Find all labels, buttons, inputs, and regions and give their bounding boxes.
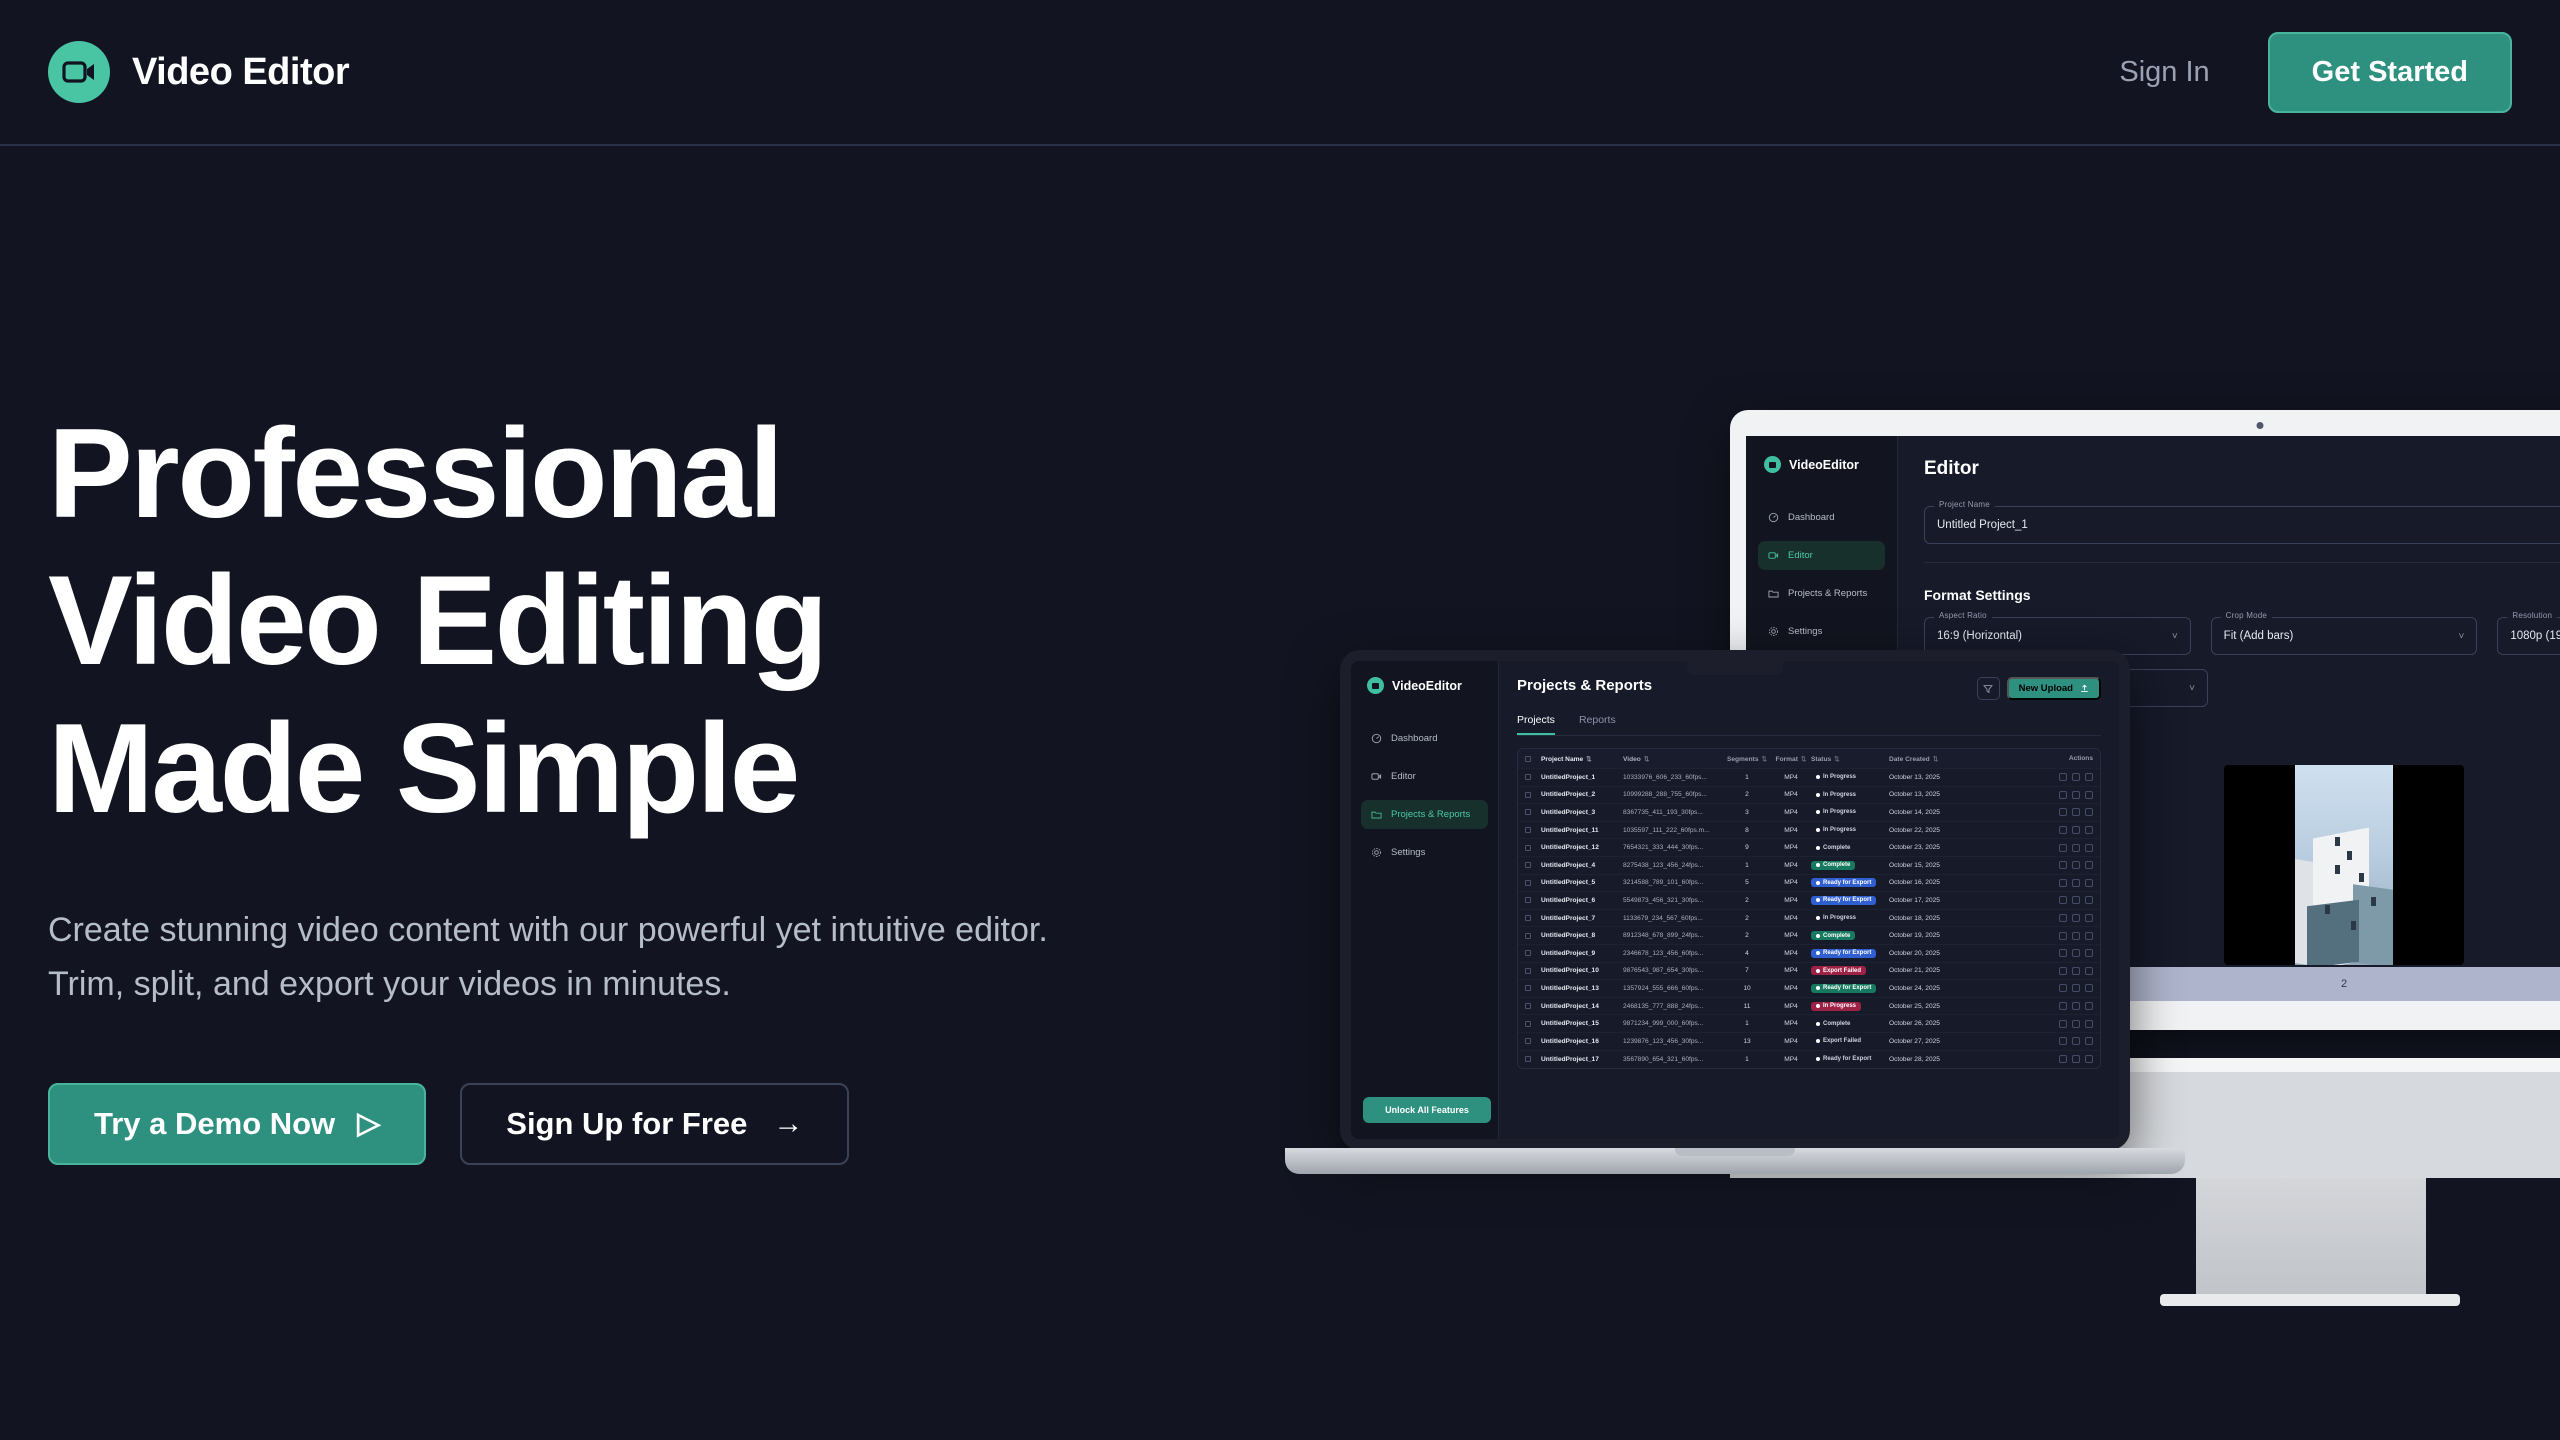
cell-format: MP4 xyxy=(1771,791,1811,798)
cell-date-created: October 18, 2025 xyxy=(1889,915,1959,922)
laptop-header: Projects & Reports New Upload xyxy=(1517,677,2101,700)
edit-icon[interactable] xyxy=(2059,949,2067,957)
video-player[interactable] xyxy=(2224,765,2464,965)
edit-icon[interactable] xyxy=(2059,791,2067,799)
status-badge: Complete xyxy=(1811,931,1855,940)
export-icon[interactable] xyxy=(2072,949,2080,957)
status-badge: Ready for Export xyxy=(1811,896,1876,905)
cell-format: MP4 xyxy=(1771,1003,1811,1010)
table-row[interactable]: UntitledProject_131357924_555_666_60fps.… xyxy=(1518,980,2100,998)
edit-icon[interactable] xyxy=(2059,773,2067,781)
editor-page-title: Editor xyxy=(1924,458,1979,480)
cell-actions xyxy=(1959,1055,2093,1063)
laptop-device: VideoEditor Dashboard Editor Projec xyxy=(1340,650,2130,1210)
sidebar-item-dashboard[interactable]: Dashboard xyxy=(1758,503,1885,532)
sidebar-item-settings[interactable]: Settings xyxy=(1361,838,1488,867)
cell-actions xyxy=(1959,791,2093,799)
cell-segments: 3 xyxy=(1723,809,1771,816)
laptop-notch xyxy=(1687,661,1783,675)
cell-status: In Progress xyxy=(1811,808,1889,817)
cell-format: MP4 xyxy=(1771,774,1811,781)
cell-project-name: UntitledProject_7 xyxy=(1541,915,1623,922)
resolution-legend: Resolution xyxy=(2507,611,2557,620)
cell-project-name: UntitledProject_12 xyxy=(1541,844,1623,851)
try-demo-label: Try a Demo Now xyxy=(94,1106,335,1142)
cell-date-created: October 24, 2025 xyxy=(1889,985,1959,992)
cell-segments: 4 xyxy=(1723,950,1771,957)
format-field-row-1: Aspect Ratio 16:9 (Horizontal) ˅ Crop Mo… xyxy=(1924,603,2560,655)
cell-actions xyxy=(1959,896,2093,904)
export-icon[interactable] xyxy=(2072,967,2080,975)
cell-date-created: October 14, 2025 xyxy=(1889,809,1959,816)
table-row[interactable]: UntitledProject_88912348_678_899_24fps..… xyxy=(1518,927,2100,945)
cell-date-created: October 13, 2025 xyxy=(1889,774,1959,781)
sign-in-link[interactable]: Sign In xyxy=(2119,56,2209,89)
camera-icon xyxy=(2257,422,2264,429)
gauge-icon xyxy=(1371,733,1382,744)
column-header-segments[interactable]: Segments⇅ xyxy=(1723,755,1771,763)
heading-line-2: Video Editing xyxy=(48,547,1228,694)
brand-name: Video Editor xyxy=(132,51,349,94)
format-settings-heading: Format Settings xyxy=(1924,587,2560,603)
cell-video: 2346678_123_456_60fps... xyxy=(1623,950,1723,957)
row-checkbox[interactable] xyxy=(1525,1038,1541,1044)
table-header-row: Project Name⇅ Video⇅ Segments⇅ Format⇅ S… xyxy=(1518,749,2100,769)
edit-icon[interactable] xyxy=(2059,844,2067,852)
divider xyxy=(1924,562,2560,563)
column-header-status[interactable]: Status⇅ xyxy=(1811,755,1889,763)
row-checkbox[interactable] xyxy=(1525,968,1541,974)
monitor-stand-neck xyxy=(2196,1178,2426,1298)
cell-video: 9871234_999_000_60fps... xyxy=(1623,1020,1723,1027)
cell-segments: 1 xyxy=(1723,1056,1771,1063)
cell-video: 3214588_789_101_60fps... xyxy=(1623,879,1723,886)
cell-segments: 8 xyxy=(1723,827,1771,834)
laptop-sidebar: VideoEditor Dashboard Editor Projec xyxy=(1351,661,1499,1139)
hero-cta-group: Try a Demo Now ▷ Sign Up for Free → xyxy=(48,1083,1228,1165)
sidebar-item-label: Settings xyxy=(1391,847,1425,858)
aspect-ratio-legend: Aspect Ratio xyxy=(1934,611,1992,620)
column-header-date-created[interactable]: Date Created⇅ xyxy=(1889,755,1959,763)
cell-format: MP4 xyxy=(1771,915,1811,922)
cell-actions xyxy=(1959,1020,2093,1028)
cell-actions xyxy=(1959,773,2093,781)
export-icon[interactable] xyxy=(2072,826,2080,834)
table-row[interactable]: UntitledProject_109876543_987_654_30fps.… xyxy=(1518,963,2100,981)
export-icon[interactable] xyxy=(2072,1020,2080,1028)
status-badge: In Progress xyxy=(1811,773,1861,782)
laptop-brand-name: VideoEditor xyxy=(1392,679,1462,693)
page-title: Professional Video Editing Made Simple xyxy=(48,400,1228,842)
row-checkbox[interactable] xyxy=(1525,897,1541,903)
delete-icon[interactable] xyxy=(2085,896,2093,904)
export-icon[interactable] xyxy=(2072,879,2080,887)
upload-icon xyxy=(2080,684,2089,693)
laptop-trackpad-notch xyxy=(1675,1148,1795,1156)
status-badge: In Progress xyxy=(1811,790,1861,799)
sign-up-button[interactable]: Sign Up for Free → xyxy=(460,1083,849,1165)
cell-status: Complete xyxy=(1811,931,1889,940)
cell-actions xyxy=(1959,949,2093,957)
cell-video: 8912348_678_899_24fps... xyxy=(1623,932,1723,939)
new-upload-button[interactable]: New Upload xyxy=(2007,677,2101,700)
video-frame-image xyxy=(2295,765,2393,965)
edit-icon[interactable] xyxy=(2059,1002,2067,1010)
cell-format: MP4 xyxy=(1771,879,1811,886)
aspect-ratio-value: 16:9 (Horizontal) xyxy=(1937,630,2022,642)
table-row[interactable]: UntitledProject_173567890_654_321_60fps.… xyxy=(1518,1051,2100,1069)
delete-icon[interactable] xyxy=(2085,1020,2093,1028)
cell-video: 1357924_555_666_60fps... xyxy=(1623,985,1723,992)
row-checkbox[interactable] xyxy=(1525,1003,1541,1009)
cell-project-name: UntitledProject_10 xyxy=(1541,967,1623,974)
cell-format: MP4 xyxy=(1771,985,1811,992)
edit-icon[interactable] xyxy=(2059,808,2067,816)
edit-icon[interactable] xyxy=(2059,984,2067,992)
edit-icon[interactable] xyxy=(2059,1055,2067,1063)
cell-project-name: UntitledProject_17 xyxy=(1541,1056,1623,1063)
export-icon[interactable] xyxy=(2072,896,2080,904)
table-row[interactable]: UntitledProject_110333976_606_233_60fps.… xyxy=(1518,769,2100,787)
table-row[interactable]: UntitledProject_111035597_111_222_60fps.… xyxy=(1518,822,2100,840)
gear-icon xyxy=(1768,626,1779,637)
cell-date-created: October 15, 2025 xyxy=(1889,862,1959,869)
delete-icon[interactable] xyxy=(2085,967,2093,975)
status-badge: Complete xyxy=(1811,843,1855,852)
video-camera-icon xyxy=(1371,771,1382,782)
status-badge: In Progress xyxy=(1811,914,1861,923)
cell-format: MP4 xyxy=(1771,827,1811,834)
cell-project-name: UntitledProject_6 xyxy=(1541,897,1623,904)
cell-actions xyxy=(1959,932,2093,940)
resolution-value: 1080p (1920x1080) xyxy=(2510,630,2560,642)
export-icon[interactable] xyxy=(2072,1055,2080,1063)
cell-format: MP4 xyxy=(1771,1056,1811,1063)
projects-table: Project Name⇅ Video⇅ Segments⇅ Format⇅ S… xyxy=(1517,748,2101,1069)
row-checkbox[interactable] xyxy=(1525,862,1541,868)
desktop-brand-name: VideoEditor xyxy=(1789,458,1859,472)
cell-format: MP4 xyxy=(1771,967,1811,974)
cell-project-name: UntitledProject_9 xyxy=(1541,950,1623,957)
row-checkbox[interactable] xyxy=(1525,933,1541,939)
crop-mode-select[interactable]: Crop Mode Fit (Add bars) ˅ xyxy=(2211,617,2478,655)
site-header: Video Editor Sign In Get Started xyxy=(0,0,2560,146)
export-icon[interactable] xyxy=(2072,861,2080,869)
cell-date-created: October 16, 2025 xyxy=(1889,879,1959,886)
row-checkbox[interactable] xyxy=(1525,915,1541,921)
gear-icon xyxy=(1371,847,1382,858)
edit-icon[interactable] xyxy=(2059,896,2067,904)
export-icon[interactable] xyxy=(2072,1037,2080,1045)
row-checkbox[interactable] xyxy=(1525,774,1541,780)
cell-video: 3567890_654_321_60fps... xyxy=(1623,1056,1723,1063)
delete-icon[interactable] xyxy=(2085,773,2093,781)
heading-line-1: Professional xyxy=(48,400,1228,547)
project-name-field[interactable]: Project Name Untitled Project_1 xyxy=(1924,506,2560,544)
export-icon[interactable] xyxy=(2072,914,2080,922)
project-name-value: Untitled Project_1 xyxy=(1937,519,2028,531)
delete-icon[interactable] xyxy=(2085,932,2093,940)
row-checkbox[interactable] xyxy=(1525,950,1541,956)
laptop-main: Projects & Reports New Upload xyxy=(1499,661,2119,1139)
cell-date-created: October 23, 2025 xyxy=(1889,844,1959,851)
status-badge: In Progress xyxy=(1811,808,1861,817)
status-badge: In Progress xyxy=(1811,1002,1861,1011)
edit-icon[interactable] xyxy=(2059,879,2067,887)
table-row[interactable]: UntitledProject_53214588_789_101_60fps..… xyxy=(1518,875,2100,893)
status-badge: In Progress xyxy=(1811,826,1861,835)
cell-status: Export Failed xyxy=(1811,1037,1889,1046)
delete-icon[interactable] xyxy=(2085,879,2093,887)
crop-mode-value: Fit (Add bars) xyxy=(2224,630,2294,642)
delete-icon[interactable] xyxy=(2085,1055,2093,1063)
cell-project-name: UntitledProject_11 xyxy=(1541,827,1623,834)
cell-actions xyxy=(1959,808,2093,816)
status-badge: Export Failed xyxy=(1811,966,1866,975)
laptop-sidebar-brand: VideoEditor xyxy=(1361,677,1488,694)
export-icon[interactable] xyxy=(2072,932,2080,940)
arrow-right-icon: → xyxy=(773,1109,803,1139)
sidebar-item-label: Projects & Reports xyxy=(1788,588,1867,599)
table-row[interactable]: UntitledProject_210999288_288_755_60fps.… xyxy=(1518,787,2100,805)
cell-status: Ready for Export xyxy=(1811,1055,1889,1064)
table-row[interactable]: UntitledProject_142468135_777_888_24fps.… xyxy=(1518,998,2100,1016)
table-row[interactable]: UntitledProject_48275438_123_456_24fps..… xyxy=(1518,857,2100,875)
cell-project-name: UntitledProject_3 xyxy=(1541,809,1623,816)
status-badge: Ready for Export xyxy=(1811,984,1876,993)
sort-icon: ⇅ xyxy=(1761,756,1767,763)
sidebar-item-label: Settings xyxy=(1788,626,1822,637)
edit-icon[interactable] xyxy=(2059,861,2067,869)
cell-date-created: October 25, 2025 xyxy=(1889,1003,1959,1010)
row-checkbox[interactable] xyxy=(1525,845,1541,851)
cell-segments: 13 xyxy=(1723,1038,1771,1045)
header-actions: Sign In Get Started xyxy=(2119,32,2512,113)
cell-actions xyxy=(1959,844,2093,852)
sort-icon: ⇅ xyxy=(1586,756,1592,763)
resolution-select[interactable]: Resolution 1080p (1920x1080) ˅ xyxy=(2497,617,2560,655)
row-checkbox[interactable] xyxy=(1525,792,1541,798)
status-badge: Ready for Export xyxy=(1811,878,1876,887)
projects-page-title: Projects & Reports xyxy=(1517,677,1652,694)
delete-icon[interactable] xyxy=(2085,914,2093,922)
sidebar-item-label: Dashboard xyxy=(1391,733,1437,744)
status-badge: Ready for Export xyxy=(1811,949,1876,958)
cell-segments: 10 xyxy=(1723,985,1771,992)
get-started-button[interactable]: Get Started xyxy=(2268,32,2512,113)
edit-icon[interactable] xyxy=(2059,826,2067,834)
delete-icon[interactable] xyxy=(2085,861,2093,869)
export-icon[interactable] xyxy=(2072,808,2080,816)
sort-icon: ⇅ xyxy=(1644,756,1650,763)
export-icon[interactable] xyxy=(2072,844,2080,852)
cell-date-created: October 19, 2025 xyxy=(1889,932,1959,939)
cell-format: MP4 xyxy=(1771,1038,1811,1045)
tab-projects[interactable]: Projects xyxy=(1517,714,1555,735)
cell-video: 1035597_111_222_60fps.m... xyxy=(1623,827,1723,834)
edit-icon[interactable] xyxy=(2059,1020,2067,1028)
folder-icon xyxy=(1371,809,1382,820)
desktop-titlebar: Editor Save Exp xyxy=(1924,458,2560,492)
sidebar-item-label: Projects & Reports xyxy=(1391,809,1470,820)
cell-project-name: UntitledProject_1 xyxy=(1541,774,1623,781)
row-checkbox[interactable] xyxy=(1525,827,1541,833)
cell-date-created: October 26, 2025 xyxy=(1889,1020,1959,1027)
delete-icon[interactable] xyxy=(2085,1037,2093,1045)
status-badge: Export Failed xyxy=(1811,1037,1866,1046)
export-icon[interactable] xyxy=(2072,1002,2080,1010)
cell-project-name: UntitledProject_13 xyxy=(1541,985,1623,992)
column-header-format[interactable]: Format⇅ xyxy=(1771,755,1811,763)
row-checkbox[interactable] xyxy=(1525,880,1541,886)
cell-actions xyxy=(1959,914,2093,922)
table-row[interactable]: UntitledProject_159871234_999_000_60fps.… xyxy=(1518,1015,2100,1033)
cell-video: 8367735_411_193_30fps... xyxy=(1623,809,1723,816)
sidebar-item-label: Dashboard xyxy=(1788,512,1834,523)
cell-format: MP4 xyxy=(1771,897,1811,904)
delete-icon[interactable] xyxy=(2085,1002,2093,1010)
table-row[interactable]: UntitledProject_92346678_123_456_60fps..… xyxy=(1518,945,2100,963)
sidebar-item-label: Editor xyxy=(1391,771,1416,782)
cell-segments: 1 xyxy=(1723,1020,1771,1027)
video-camera-icon xyxy=(1768,550,1779,561)
row-checkbox[interactable] xyxy=(1525,985,1541,991)
cell-format: MP4 xyxy=(1771,932,1811,939)
delete-icon[interactable] xyxy=(2085,844,2093,852)
cell-status: Ready for Export xyxy=(1811,878,1889,887)
laptop-lid: VideoEditor Dashboard Editor Projec xyxy=(1340,650,2130,1150)
delete-icon[interactable] xyxy=(2085,984,2093,992)
cell-project-name: UntitledProject_5 xyxy=(1541,879,1623,886)
column-header-video[interactable]: Video⇅ xyxy=(1623,755,1723,763)
sidebar-item-projects-reports[interactable]: Projects & Reports xyxy=(1361,800,1488,829)
cell-format: MP4 xyxy=(1771,1020,1811,1027)
cell-project-name: UntitledProject_16 xyxy=(1541,1038,1623,1045)
cell-actions xyxy=(1959,826,2093,834)
cell-status: Complete xyxy=(1811,843,1889,852)
gauge-icon xyxy=(1768,512,1779,523)
status-badge: Complete xyxy=(1811,861,1855,870)
cell-segments: 1 xyxy=(1723,862,1771,869)
row-checkbox[interactable] xyxy=(1525,1056,1541,1062)
sidebar-item-settings[interactable]: Settings xyxy=(1758,617,1885,646)
export-icon[interactable] xyxy=(2072,984,2080,992)
video-camera-icon xyxy=(48,41,110,103)
table-row[interactable]: UntitledProject_71133679_234_567_60fps..… xyxy=(1518,910,2100,928)
cell-segments: 7 xyxy=(1723,967,1771,974)
cell-project-name: UntitledProject_14 xyxy=(1541,1003,1623,1010)
export-icon[interactable] xyxy=(2072,773,2080,781)
sidebar-item-label: Editor xyxy=(1788,550,1813,561)
unlock-all-features-button[interactable]: Unlock All Features xyxy=(1363,1097,1491,1123)
cell-status: In Progress xyxy=(1811,914,1889,923)
desktop-sidebar-brand: VideoEditor xyxy=(1758,456,1885,473)
cell-actions xyxy=(1959,1002,2093,1010)
cell-video: 2468135_777_888_24fps... xyxy=(1623,1003,1723,1010)
table-row[interactable]: UntitledProject_127654321_333_444_30fps.… xyxy=(1518,839,2100,857)
cell-video: 8275438_123_456_24fps... xyxy=(1623,862,1723,869)
brand-logo[interactable]: Video Editor xyxy=(48,41,349,103)
cell-actions xyxy=(1959,984,2093,992)
delete-icon[interactable] xyxy=(2085,808,2093,816)
cell-status: In Progress xyxy=(1811,826,1889,835)
cell-segments: 5 xyxy=(1723,879,1771,886)
heading-line-3: Made Simple xyxy=(48,695,1228,842)
edit-icon[interactable] xyxy=(2059,914,2067,922)
row-checkbox[interactable] xyxy=(1525,809,1541,815)
table-row[interactable]: UntitledProject_161239876_123_456_30fps.… xyxy=(1518,1033,2100,1051)
cell-status: In Progress xyxy=(1811,1002,1889,1011)
sort-icon: ⇅ xyxy=(1801,756,1807,763)
projects-header-actions: New Upload xyxy=(1977,677,2101,700)
cell-status: In Progress xyxy=(1811,790,1889,799)
cell-video: 10999288_288_755_60fps... xyxy=(1623,791,1723,798)
cell-segments: 2 xyxy=(1723,915,1771,922)
cell-date-created: October 28, 2025 xyxy=(1889,1056,1959,1063)
edit-icon[interactable] xyxy=(2059,967,2067,975)
cell-segments: 2 xyxy=(1723,897,1771,904)
cell-format: MP4 xyxy=(1771,809,1811,816)
delete-icon[interactable] xyxy=(2085,949,2093,957)
column-header-project-name[interactable]: Project Name⇅ xyxy=(1541,755,1623,763)
projects-tabs: Projects Reports xyxy=(1517,714,2101,736)
cell-actions xyxy=(1959,967,2093,975)
cell-format: MP4 xyxy=(1771,950,1811,957)
cell-date-created: October 21, 2025 xyxy=(1889,967,1959,974)
edit-icon[interactable] xyxy=(2059,932,2067,940)
cell-project-name: UntitledProject_8 xyxy=(1541,932,1623,939)
cell-status: Ready for Export xyxy=(1811,949,1889,958)
video-camera-icon xyxy=(1367,677,1384,694)
export-icon[interactable] xyxy=(2072,791,2080,799)
delete-icon[interactable] xyxy=(2085,791,2093,799)
cell-status: Ready for Export xyxy=(1811,984,1889,993)
new-upload-label: New Upload xyxy=(2019,683,2073,694)
table-row[interactable]: UntitledProject_38367735_411_193_30fps..… xyxy=(1518,804,2100,822)
sidebar-item-dashboard[interactable]: Dashboard xyxy=(1361,724,1488,753)
funnel-icon[interactable] xyxy=(1977,677,2000,700)
try-demo-button[interactable]: Try a Demo Now ▷ xyxy=(48,1083,426,1165)
cell-status: Complete xyxy=(1811,1019,1889,1028)
row-checkbox[interactable] xyxy=(1525,1021,1541,1027)
cell-date-created: October 20, 2025 xyxy=(1889,950,1959,957)
delete-icon[interactable] xyxy=(2085,826,2093,834)
sidebar-item-projects-reports[interactable]: Projects & Reports xyxy=(1758,579,1885,608)
select-all-checkbox[interactable] xyxy=(1525,756,1541,762)
sidebar-item-editor[interactable]: Editor xyxy=(1758,541,1885,570)
tab-reports[interactable]: Reports xyxy=(1579,714,1616,735)
chevron-down-icon: ˅ xyxy=(2189,683,2195,694)
cell-status: In Progress xyxy=(1811,773,1889,782)
cell-segments: 2 xyxy=(1723,791,1771,798)
project-name-legend: Project Name xyxy=(1934,500,1995,509)
edit-icon[interactable] xyxy=(2059,1037,2067,1045)
sidebar-item-editor[interactable]: Editor xyxy=(1361,762,1488,791)
cell-date-created: October 22, 2025 xyxy=(1889,827,1959,834)
monitor-stand-foot xyxy=(2160,1294,2460,1306)
status-badge: Complete xyxy=(1811,1019,1855,1028)
table-row[interactable]: UntitledProject_65549873_456_321_30fps..… xyxy=(1518,892,2100,910)
status-badge: Ready for Export xyxy=(1811,1055,1876,1064)
product-mockup: VideoEditor Dashboard Editor Projects & … xyxy=(1340,380,2560,1230)
folder-icon xyxy=(1768,588,1779,599)
cell-segments: 1 xyxy=(1723,774,1771,781)
play-icon: ▷ xyxy=(357,1109,380,1139)
cell-segments: 2 xyxy=(1723,932,1771,939)
cell-segments: 9 xyxy=(1723,844,1771,851)
cell-format: MP4 xyxy=(1771,862,1811,869)
cell-actions xyxy=(1959,879,2093,887)
